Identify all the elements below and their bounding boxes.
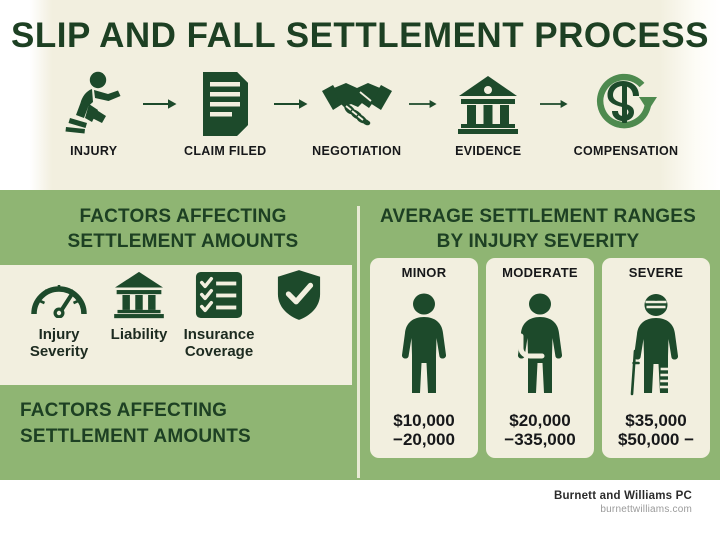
factors-heading: FACTORS AFFECTING SETTLEMENT AMOUNTS	[18, 204, 348, 255]
arrow-right-icon	[140, 68, 180, 140]
factors-heading-repeat: FACTORS AFFECTING SETTLEMENT AMOUNTS	[20, 398, 340, 449]
factor-shield-check	[260, 268, 338, 326]
factor-label-line2: Severity	[30, 343, 88, 360]
shield-check-icon	[276, 268, 322, 322]
factors-heading-line1: FACTORS AFFECTING	[18, 204, 348, 229]
handshake-icon	[320, 68, 394, 140]
dollar-refresh-icon	[591, 68, 661, 140]
severity-card-moderate: MODERATE $20,000 −335,000	[486, 258, 594, 458]
factor-label: Liability	[111, 326, 168, 343]
green-content-section: FACTORS AFFECTING SETTLEMENT AMOUNTS AVE…	[0, 190, 720, 480]
process-step-label: INJURY	[70, 144, 117, 158]
person-arm-sling-icon	[508, 280, 572, 411]
factor-liability: Liability	[100, 268, 178, 343]
card-title: MINOR	[402, 265, 447, 280]
ranges-heading-line1: AVERAGE SETTLEMENT RANGES	[368, 204, 708, 229]
factors-list: Injury Severity	[14, 268, 344, 382]
card-amount: $10,000 −20,000	[393, 411, 455, 450]
firm-name: Burnett and Williams PC	[554, 490, 692, 502]
card-amount: $35,000 $50,000 −	[618, 411, 694, 450]
card-title: MODERATE	[502, 265, 578, 280]
process-step-injury: INJURY	[48, 68, 140, 158]
footer: Burnett and Williams PC burnettwilliams.…	[0, 480, 720, 541]
firm-website[interactable]: burnettwilliams.com	[554, 504, 692, 515]
footer-branding: Burnett and Williams PC burnettwilliams.…	[554, 490, 692, 515]
factor-label-line1: Liability	[111, 326, 168, 343]
factors-heading-line2: SETTLEMENT AMOUNTS	[18, 229, 348, 254]
process-step-claim-filed: CLAIM FILED	[180, 68, 272, 158]
process-step-label: CLAIM FILED	[184, 144, 266, 158]
arrow-right-icon	[534, 68, 574, 140]
process-steps-row: INJURY	[48, 68, 678, 176]
process-step-negotiation: NEGOTIATION	[311, 68, 403, 158]
arrow-right-icon	[271, 68, 311, 140]
factor-injury-severity: Injury Severity	[20, 268, 98, 361]
arrow-right-icon	[403, 68, 443, 140]
card-amount-line2: −335,000	[504, 430, 575, 450]
slip-fall-person-icon	[62, 68, 126, 140]
courthouse-icon	[113, 268, 165, 322]
courthouse-icon	[457, 68, 519, 140]
checklist-icon	[195, 268, 243, 322]
header-panel: SLIP AND FALL SETTLEMENT PROCESS	[0, 0, 720, 190]
factors-heading-repeat-line2: SETTLEMENT AMOUNTS	[20, 424, 340, 450]
card-amount: $20,000 −335,000	[504, 411, 575, 450]
person-crutch-bandage-icon	[621, 280, 691, 411]
card-amount-line2: $50,000 −	[618, 430, 694, 450]
process-step-compensation: COMPENSATION	[574, 68, 678, 158]
infographic-root: SLIP AND FALL SETTLEMENT PROCESS	[0, 0, 720, 541]
factor-insurance-coverage: Insurance Coverage	[180, 268, 258, 361]
severity-cards-row: MINOR $10,000 −20,000 MODERATE	[370, 258, 710, 458]
card-title: SEVERE	[629, 265, 684, 280]
process-step-label: COMPENSATION	[574, 144, 679, 158]
card-amount-line2: −20,000	[393, 430, 455, 450]
factor-label-line2: Coverage	[184, 343, 255, 360]
column-divider	[357, 206, 360, 478]
factor-label: Insurance Coverage	[184, 326, 255, 361]
document-icon	[199, 68, 251, 140]
factors-heading-repeat-line1: FACTORS AFFECTING	[20, 398, 340, 424]
ranges-heading: AVERAGE SETTLEMENT RANGES BY INJURY SEVE…	[368, 204, 708, 255]
ranges-heading-line2: BY INJURY SEVERITY	[368, 229, 708, 254]
card-amount-line1: $35,000	[618, 411, 694, 431]
factor-label-line1: Injury	[30, 326, 88, 343]
severity-card-minor: MINOR $10,000 −20,000	[370, 258, 478, 458]
card-amount-line1: $10,000	[393, 411, 455, 431]
person-icon	[392, 280, 456, 411]
process-step-label: NEGOTIATION	[312, 144, 401, 158]
card-amount-line1: $20,000	[504, 411, 575, 431]
factor-label: Injury Severity	[30, 326, 88, 361]
process-step-evidence: EVIDENCE	[443, 68, 535, 158]
page-title: SLIP AND FALL SETTLEMENT PROCESS	[0, 16, 720, 56]
process-step-label: EVIDENCE	[455, 144, 521, 158]
gauge-icon	[31, 268, 87, 322]
factor-label-line1: Insurance	[184, 326, 255, 343]
severity-card-severe: SEVERE	[602, 258, 710, 458]
